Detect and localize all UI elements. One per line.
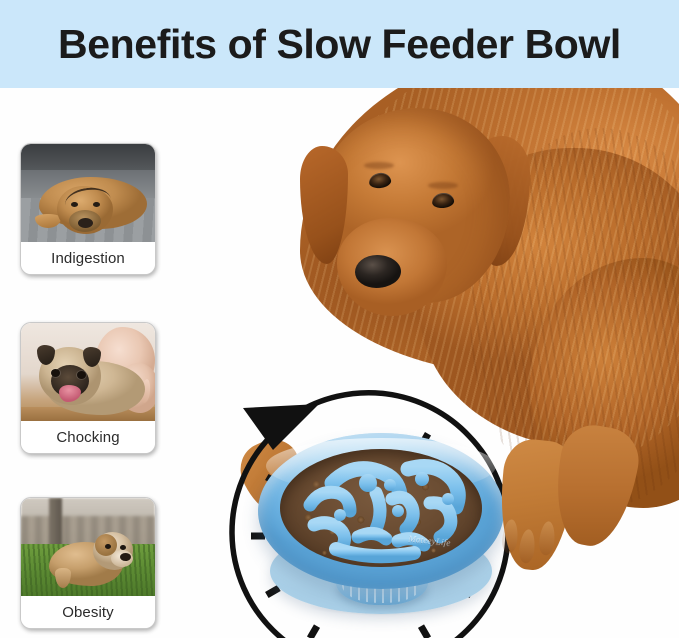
card-photo-chocking — [21, 323, 155, 421]
card-label-chocking: Chocking — [21, 421, 155, 453]
benefit-card-obesity: Obesity — [20, 497, 156, 629]
card-label-indigestion: Indigestion — [21, 242, 155, 274]
card-photo-indigestion — [21, 144, 155, 242]
card-label-obesity: Obesity — [21, 596, 155, 628]
dog-brow-left — [364, 162, 394, 169]
slow-feeder-bowl: MateeyLife — [258, 433, 504, 623]
infographic-canvas: Benefits of Slow Feeder Bowl — [0, 0, 679, 638]
header-banner: Benefits of Slow Feeder Bowl — [0, 0, 679, 88]
benefit-card-chocking: Chocking — [20, 322, 156, 454]
card-photo-obesity — [21, 498, 155, 596]
benefit-card-indigestion: Indigestion — [20, 143, 156, 275]
page-title: Benefits of Slow Feeder Bowl — [58, 24, 621, 65]
multiplier-value: 10 — [186, 634, 232, 638]
dog-brow-right — [428, 182, 458, 189]
